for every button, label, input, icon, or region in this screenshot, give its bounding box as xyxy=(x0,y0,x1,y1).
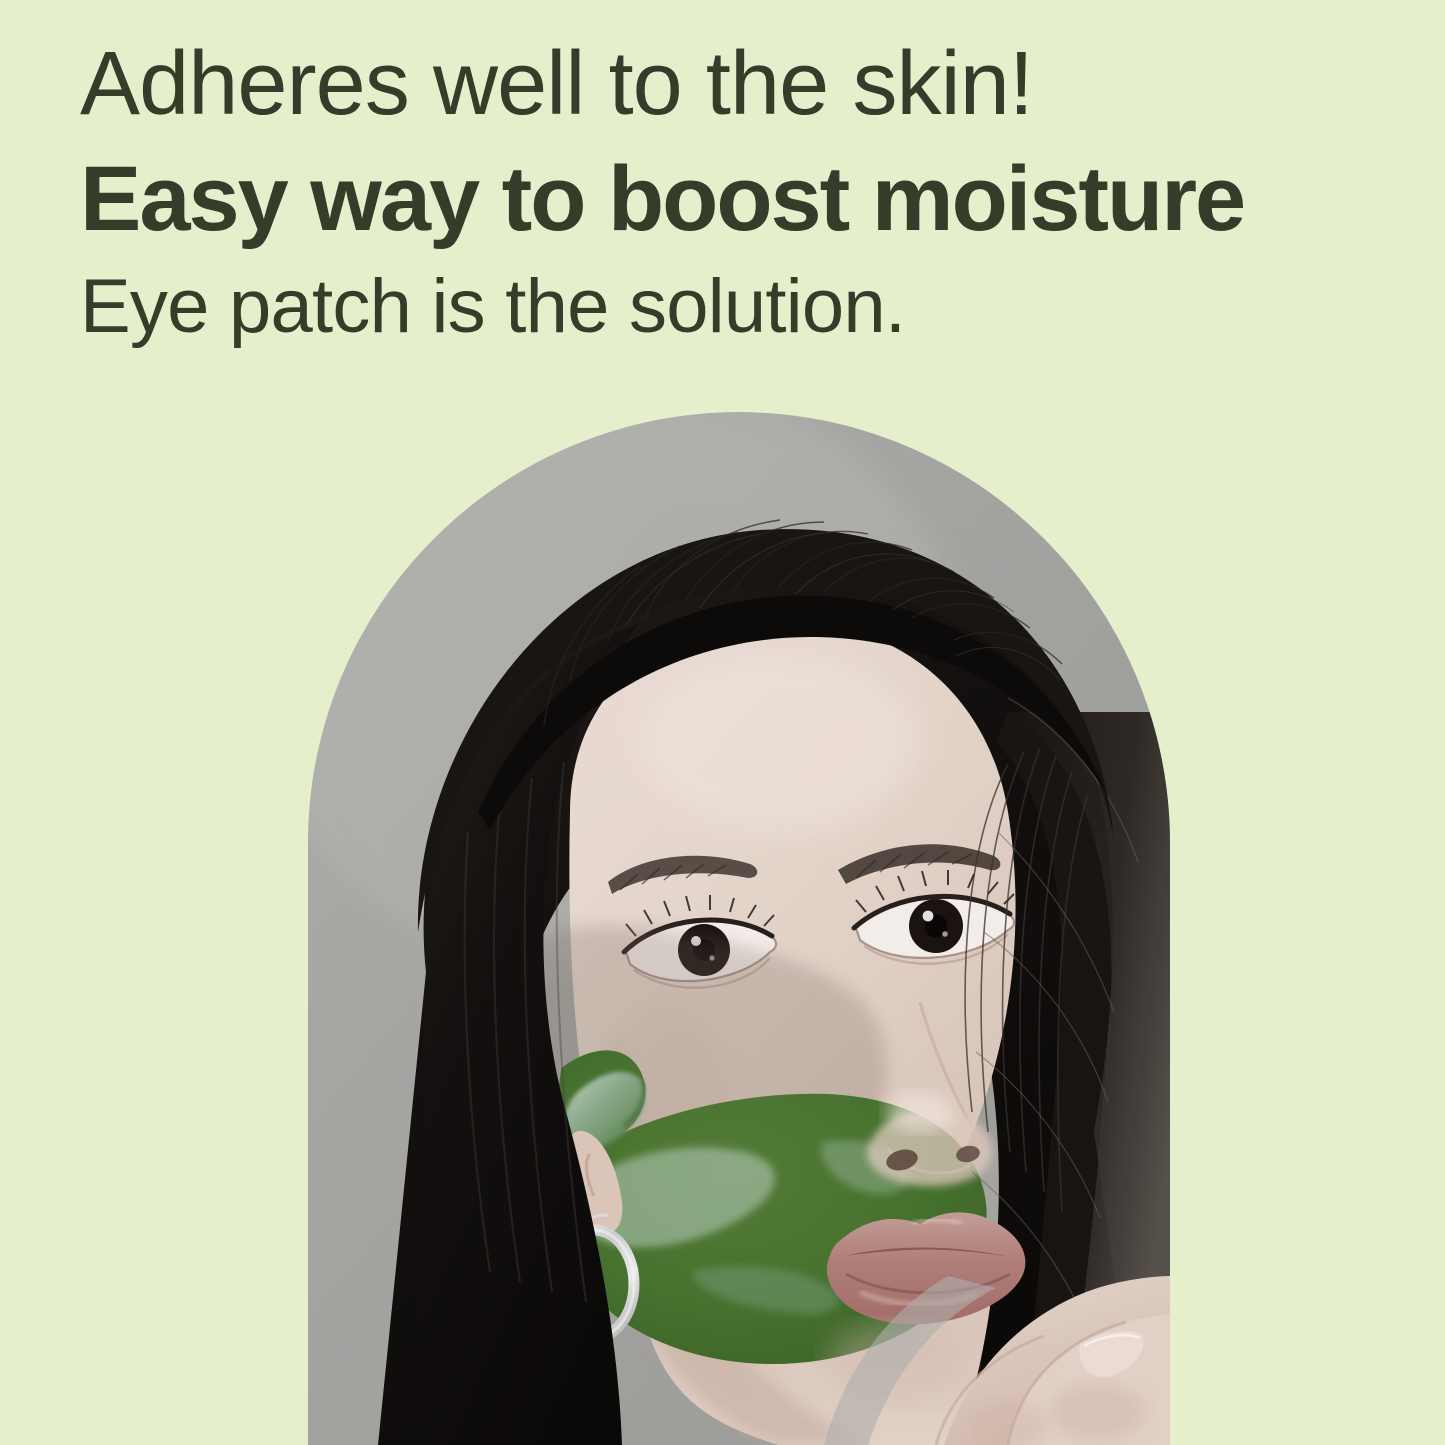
photo-content xyxy=(308,412,1170,1445)
portrait-illustration xyxy=(308,412,1170,1445)
headline-block: Adheres well to the skin! Easy way to bo… xyxy=(80,34,1370,349)
promo-banner: Adheres well to the skin! Easy way to bo… xyxy=(0,0,1445,1445)
product-photo xyxy=(308,412,1170,1445)
headline-line-2: Easy way to boost moisture xyxy=(80,149,1370,250)
headline-line-1: Adheres well to the skin! xyxy=(80,34,1370,135)
headline-line-3: Eye patch is the solution. xyxy=(80,264,1370,349)
